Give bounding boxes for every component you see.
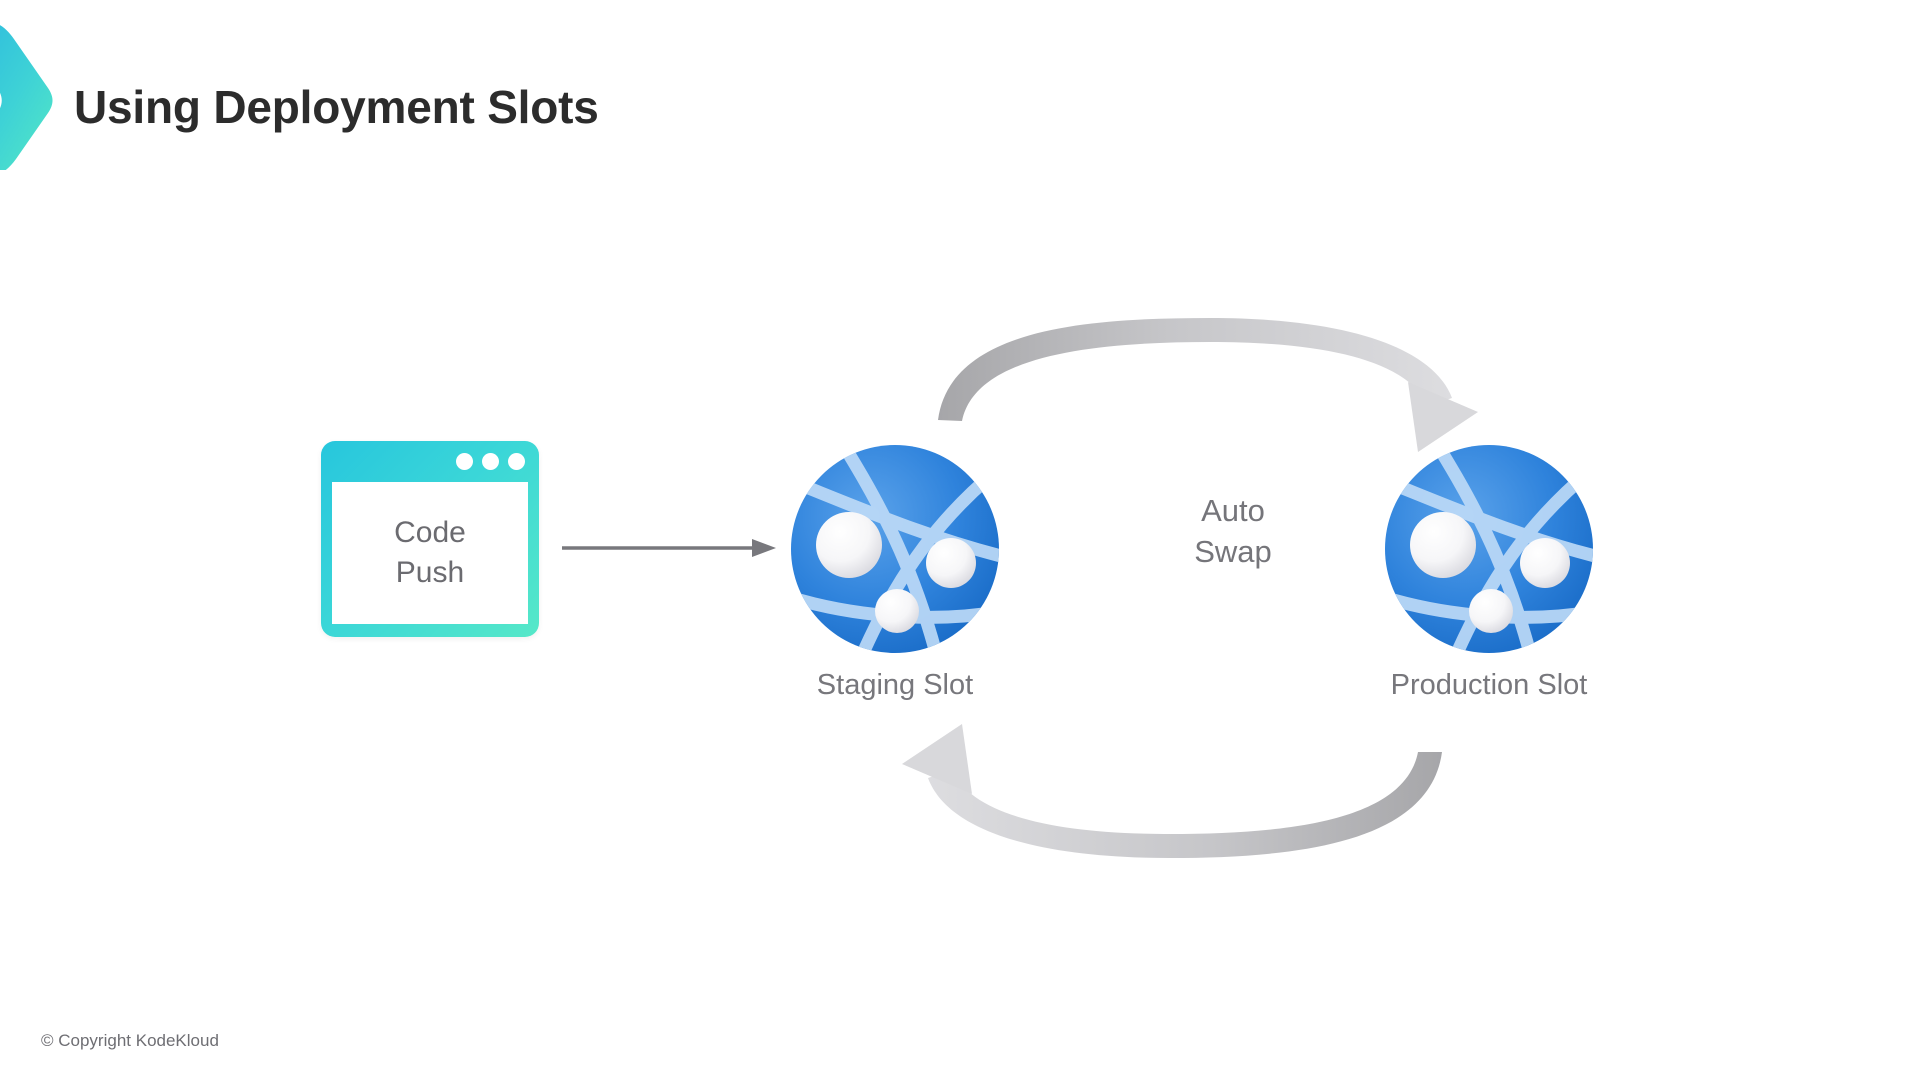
chevron-right-icon	[0, 20, 60, 170]
staging-slot-node: Staging Slot	[787, 441, 1003, 702]
globe-network-icon	[787, 441, 1003, 657]
browser-window-body: Code Push	[332, 482, 528, 624]
auto-swap-label: Auto Swap	[1093, 490, 1373, 572]
window-dot	[482, 453, 499, 470]
globe-network-icon	[1381, 441, 1597, 657]
code-push-window: Code Push	[321, 441, 539, 637]
curved-arrow-right-icon	[938, 318, 1478, 452]
code-push-label-line2: Push	[396, 553, 464, 593]
window-dot	[508, 453, 525, 470]
staging-slot-label: Staging Slot	[787, 669, 1003, 702]
browser-window-icon: Code Push	[321, 441, 539, 637]
production-slot-label: Production Slot	[1381, 669, 1597, 702]
auto-swap-line2: Swap	[1093, 531, 1373, 572]
auto-swap-line1: Auto	[1093, 490, 1373, 531]
page-title: Using Deployment Slots	[74, 80, 599, 134]
arrow-right-icon	[560, 530, 780, 566]
slide-canvas: Using Deployment Slots	[0, 0, 1920, 1080]
curved-arrow-left-icon	[902, 724, 1442, 858]
copyright-footer: © Copyright KodeKloud	[41, 1031, 219, 1051]
window-control-dots	[456, 453, 525, 470]
window-dot	[456, 453, 473, 470]
code-push-label-line1: Code	[394, 513, 466, 553]
production-slot-node: Production Slot	[1381, 441, 1597, 702]
